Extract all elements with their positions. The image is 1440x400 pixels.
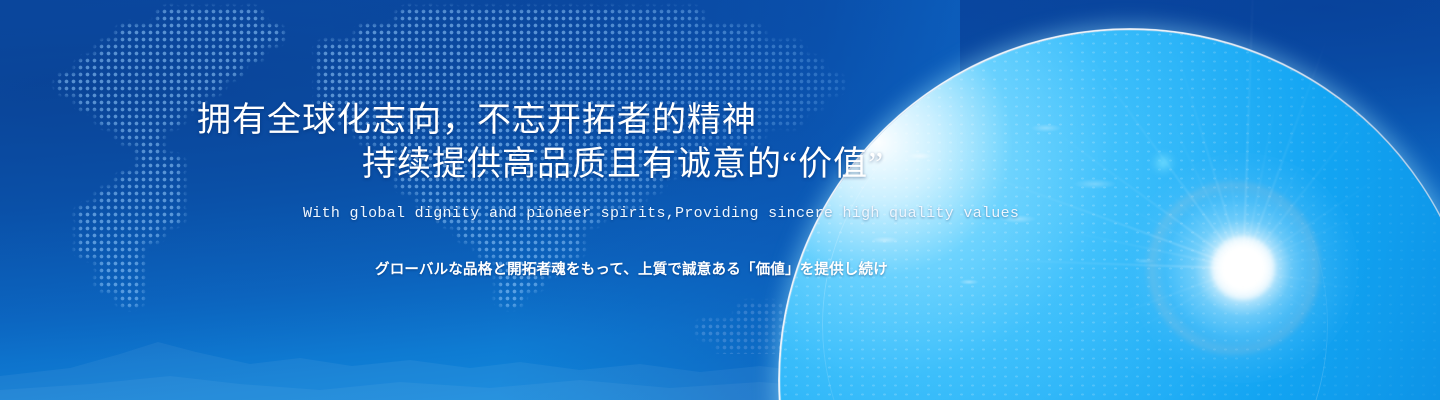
sky-top-right-tint xyxy=(0,0,1440,400)
subtitle-english: With global dignity and pioneer spirits,… xyxy=(303,205,1019,222)
subtitle-japanese: グローバルな品格と開拓者魂をもって、上質で誠意ある「価値」を提供し続け xyxy=(375,258,888,279)
headline-line-2: 持续提供高品质且有诚意的“价值” xyxy=(362,136,884,185)
corporate-vision-hero-banner: 拥有全球化志向，不忘开拓者的精神 持续提供高品质且有诚意的“价值” With g… xyxy=(0,0,1440,400)
headline-line-1: 拥有全球化志向，不忘开拓者的精神 xyxy=(197,92,757,141)
